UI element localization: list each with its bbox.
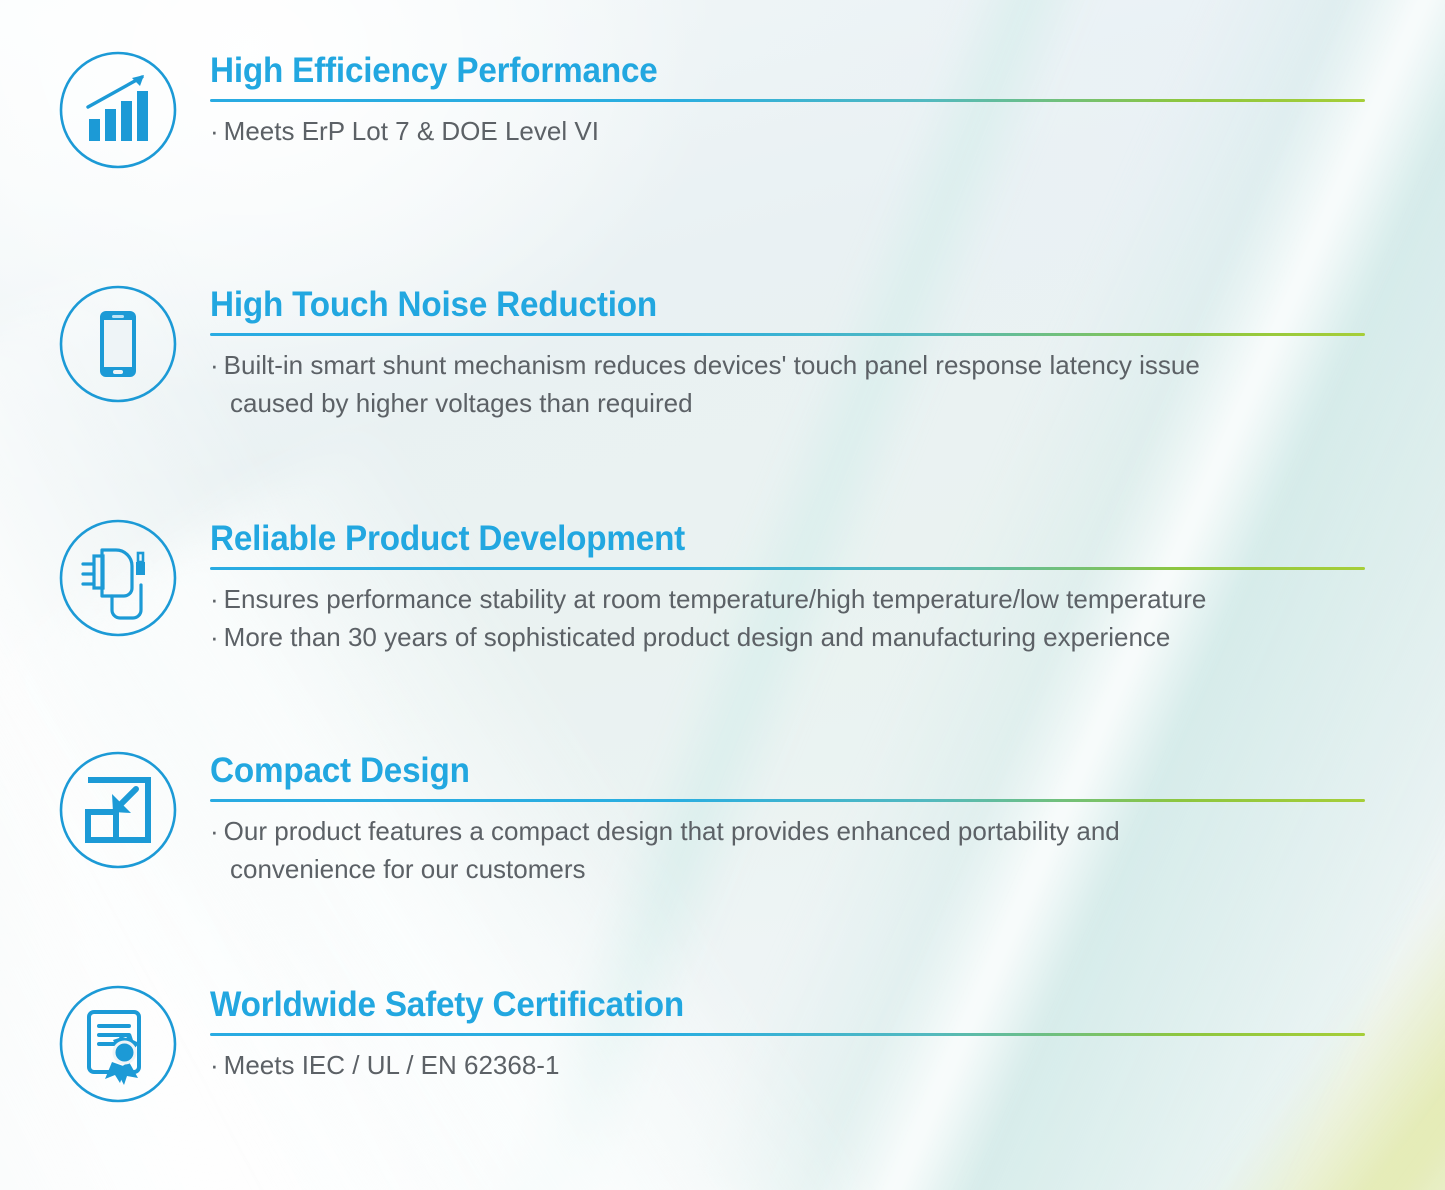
feature-title: High Touch Noise Reduction [210,284,1312,326]
feature-body: Reliable Product Development ·Ensures pe… [210,518,1370,656]
feature-divider [210,99,1365,102]
feature-line-text: caused by higher voltages than required [230,388,693,418]
feature-description: ·Meets IEC / UL / EN 62368-1 [210,1046,1370,1084]
feature-highlights-page: High Efficiency Performance ·Meets ErP L… [0,0,1445,1190]
feature-title: High Efficiency Performance [210,50,1312,92]
power-adapter-icon [58,518,178,638]
feature-line-text: More than 30 years of sophisticated prod… [224,622,1171,652]
bullet-mark: · [210,584,219,614]
feature-body: High Touch Noise Reduction ·Built-in sma… [210,284,1370,422]
feature-description: ·Built-in smart shunt mechanism reduces … [210,346,1370,422]
bullet-mark: · [210,350,219,380]
feature-line-text: Built-in smart shunt mechanism reduces d… [224,350,1200,380]
feature-line: ·Our product features a compact design t… [210,812,1370,850]
feature-divider [210,799,1365,802]
bullet-mark: · [210,116,219,146]
feature-line-text: Our product features a compact design th… [224,816,1120,846]
bullet-mark: · [210,816,219,846]
feature-line: ·Ensures performance stability at room t… [210,580,1370,618]
feature-line: ·More than 30 years of sophisticated pro… [210,618,1370,656]
feature-divider [210,567,1365,570]
feature-divider [210,333,1365,336]
bar-chart-growth-icon [58,50,178,170]
feature-title: Reliable Product Development [210,518,1312,560]
bullet-mark: · [210,622,219,652]
bullet-mark: · [210,1050,219,1080]
feature-description: ·Ensures performance stability at room t… [210,580,1370,656]
feature-body: Worldwide Safety Certification ·Meets IE… [210,984,1370,1084]
feature-line-text: Ensures performance stability at room te… [224,584,1207,614]
feature-line: convenience for our customers [210,850,1370,888]
feature-line: ·Built-in smart shunt mechanism reduces … [210,346,1370,384]
feature-description: ·Our product features a compact design t… [210,812,1370,888]
feature-line-text: convenience for our customers [230,854,586,884]
feature-line: ·Meets ErP Lot 7 & DOE Level VI [210,112,1370,150]
feature-line-text: Meets ErP Lot 7 & DOE Level VI [224,116,599,146]
certificate-award-icon [58,984,178,1104]
feature-description: ·Meets ErP Lot 7 & DOE Level VI [210,112,1370,150]
compact-resize-icon [58,750,178,870]
feature-body: High Efficiency Performance ·Meets ErP L… [210,50,1370,150]
feature-title: Compact Design [210,750,1312,792]
feature-line-text: Meets IEC / UL / EN 62368-1 [224,1050,560,1080]
smartphone-icon [58,284,178,404]
feature-line: caused by higher voltages than required [210,384,1370,422]
feature-line: ·Meets IEC / UL / EN 62368-1 [210,1046,1370,1084]
feature-body: Compact Design ·Our product features a c… [210,750,1370,888]
feature-divider [210,1033,1365,1036]
feature-title: Worldwide Safety Certification [210,984,1312,1026]
